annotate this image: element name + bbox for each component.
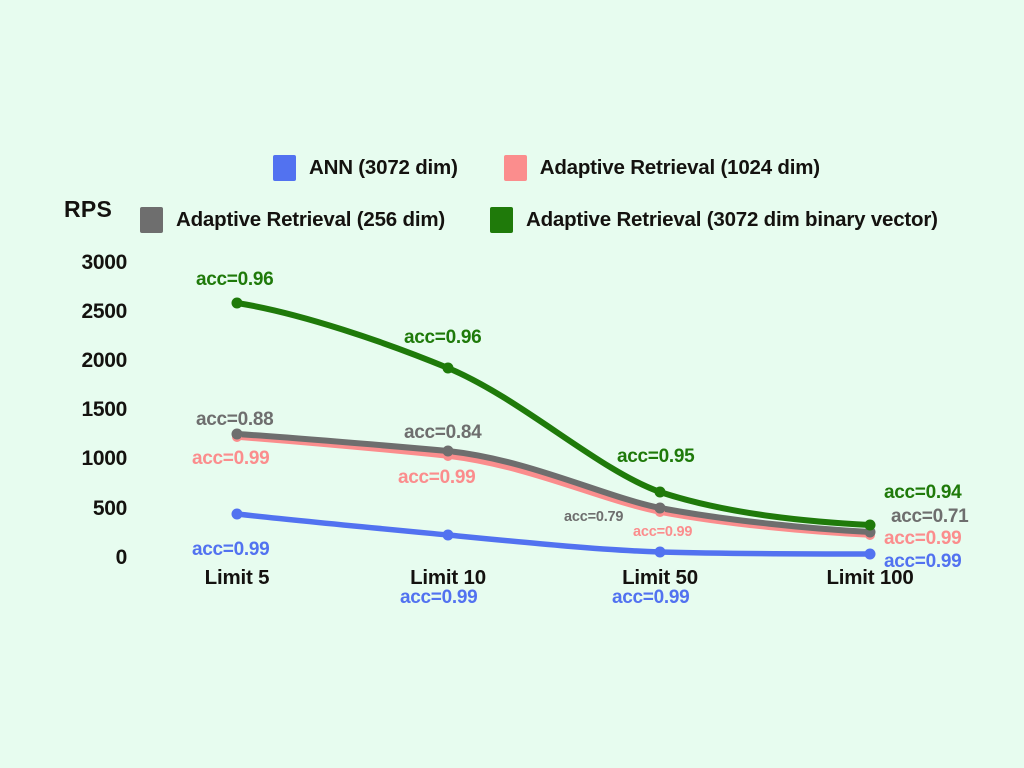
legend-swatch-icon	[273, 155, 296, 181]
data-point	[232, 298, 243, 309]
legend-swatch-icon	[504, 155, 527, 181]
legend-swatch-icon	[490, 207, 513, 233]
y-axis-ticks: 3000 2500 2000 1500 1000 500 0	[0, 0, 127, 768]
x-tick-label-limit-5: Limit 5	[205, 566, 270, 590]
series-line-adaptive-1024	[237, 437, 870, 535]
point-label-green-limit10: acc=0.96	[404, 327, 481, 349]
legend-item-label: Adaptive Retrieval (1024 dim)	[540, 156, 820, 180]
y-tick-label: 1500	[81, 398, 127, 422]
series-line-ann	[237, 514, 870, 554]
chart-legend: ANN (3072 dim) Adaptive Retrieval (1024 …	[140, 155, 1000, 251]
legend-swatch-icon	[140, 207, 163, 233]
legend-item-label: Adaptive Retrieval (3072 dim binary vect…	[526, 208, 938, 232]
data-point	[443, 451, 453, 461]
data-point	[655, 507, 665, 517]
series-line-adaptive-256	[237, 434, 870, 532]
point-label-blue-limit10: acc=0.99	[400, 587, 477, 609]
legend-item-adaptive-1024[interactable]: Adaptive Retrieval (1024 dim)	[504, 155, 820, 181]
data-point	[443, 530, 454, 541]
data-point	[443, 446, 454, 457]
y-tick-label: 2500	[81, 300, 127, 324]
point-label-gray-limit50: acc=0.79	[564, 509, 623, 525]
y-tick-label: 2000	[81, 349, 127, 373]
point-label-gray-limit10: acc=0.84	[404, 422, 481, 444]
y-tick-label: 1000	[81, 447, 127, 471]
point-label-pink-limit5: acc=0.99	[192, 448, 269, 470]
series-line-adaptive-binary	[237, 303, 870, 525]
point-label-green-limit100: acc=0.94	[884, 482, 961, 504]
legend-item-label: ANN (3072 dim)	[309, 156, 458, 180]
legend-item-adaptive-binary[interactable]: Adaptive Retrieval (3072 dim binary vect…	[490, 207, 938, 233]
legend-row-2: Adaptive Retrieval (256 dim) Adaptive Re…	[140, 207, 938, 233]
data-point	[443, 363, 454, 374]
data-point	[865, 530, 875, 540]
data-point	[865, 520, 876, 531]
data-point	[865, 549, 876, 560]
point-label-pink-limit10: acc=0.99	[398, 467, 475, 489]
point-label-green-limit50: acc=0.95	[617, 446, 694, 468]
point-label-gray-limit5: acc=0.88	[196, 409, 273, 431]
point-label-blue-limit5: acc=0.99	[192, 539, 269, 561]
y-tick-label: 3000	[81, 251, 127, 275]
legend-item-label: Adaptive Retrieval (256 dim)	[176, 208, 445, 232]
data-point	[655, 547, 666, 558]
point-label-gray-limit100: acc=0.71	[891, 506, 968, 528]
data-point	[865, 527, 876, 538]
x-tick-label-limit-10: Limit 10	[410, 566, 486, 590]
point-label-green-limit5: acc=0.96	[196, 269, 273, 291]
x-tick-label-limit-50: Limit 50	[622, 566, 698, 590]
legend-item-adaptive-256[interactable]: Adaptive Retrieval (256 dim)	[140, 207, 445, 233]
point-label-pink-limit100: acc=0.99	[884, 528, 961, 550]
data-point	[655, 487, 666, 498]
point-label-pink-limit50: acc=0.99	[633, 524, 692, 540]
point-label-blue-limit50: acc=0.99	[612, 587, 689, 609]
data-point	[232, 432, 242, 442]
y-tick-label: 500	[93, 497, 127, 521]
chart-root: ANN (3072 dim) Adaptive Retrieval (1024 …	[0, 0, 1024, 768]
legend-row-1: ANN (3072 dim) Adaptive Retrieval (1024 …	[273, 155, 820, 181]
data-point	[655, 503, 666, 514]
x-tick-label-limit-100: Limit 100	[826, 566, 913, 590]
plot-area	[0, 0, 1024, 768]
y-tick-label: 0	[116, 546, 127, 570]
data-point	[232, 509, 243, 520]
legend-item-ann[interactable]: ANN (3072 dim)	[273, 155, 458, 181]
